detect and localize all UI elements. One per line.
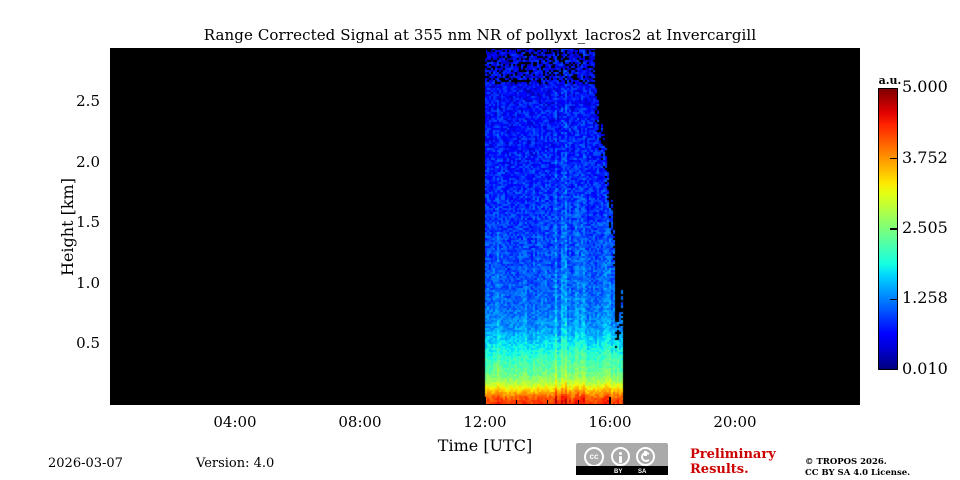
x-tick-minor-top [672, 48, 673, 53]
x-tick-minor-top [766, 48, 767, 53]
x-tick-minor [297, 400, 298, 405]
y-tick-major [110, 283, 118, 285]
x-tick-minor-top [391, 48, 392, 53]
x-tick-label: 04:00 [190, 413, 280, 431]
x-tick-minor [672, 400, 673, 405]
y-tick-major-right [852, 162, 860, 164]
x-tick-minor-top [797, 48, 798, 53]
y-tick-label: 1.0 [30, 274, 100, 292]
x-tick-minor [266, 400, 267, 405]
y-tick-minor-right [855, 132, 860, 133]
lidar-quicklook-figure: Range Corrected Signal at 355 nm NR of p… [0, 0, 960, 480]
x-tick-major [484, 397, 486, 405]
x-tick-minor [516, 400, 517, 405]
x-tick-minor-top [453, 48, 454, 53]
cc-by-person-icon [611, 447, 630, 466]
x-tick-minor [422, 400, 423, 405]
y-tick-minor-right [855, 193, 860, 194]
x-tick-minor [203, 400, 204, 405]
cc-badge-label-bar: BY SA [576, 466, 668, 475]
y-tick-minor-right [855, 374, 860, 375]
x-tick-minor [547, 400, 548, 405]
y-tick-major-right [852, 223, 860, 225]
colorbar-tick [890, 299, 897, 301]
y-tick-minor [110, 72, 115, 73]
x-tick-minor [578, 400, 579, 405]
y-tick-major-right [852, 283, 860, 285]
x-tick-major-top [359, 48, 361, 56]
y-tick-label: 0.5 [30, 334, 100, 352]
y-tick-major-right [852, 102, 860, 104]
preliminary-line-2: Results. [690, 463, 776, 478]
x-tick-major [734, 397, 736, 405]
cc-sa-label: SA [638, 469, 646, 475]
x-tick-minor-top [547, 48, 548, 53]
x-tick-minor [828, 400, 829, 405]
x-tick-minor [328, 400, 329, 405]
cc-badge-icons-row: cc [576, 444, 668, 466]
x-tick-minor [391, 400, 392, 405]
y-tick-major [110, 223, 118, 225]
y-tick-major [110, 344, 118, 346]
y-tick-minor [110, 253, 115, 254]
heatmap-data-image [110, 48, 860, 405]
x-tick-major-top [609, 48, 611, 56]
x-tick-minor [797, 400, 798, 405]
colorbar-tick-label: 3.752 [902, 148, 948, 167]
x-tick-label: 16:00 [565, 413, 655, 431]
copyright-line-1: © TROPOS 2026. [805, 457, 910, 468]
x-tick-major [609, 397, 611, 405]
y-tick-minor [110, 374, 115, 375]
x-tick-label: 08:00 [315, 413, 405, 431]
copyright-line-2: CC BY SA 4.0 License. [805, 468, 910, 479]
cc-logo-text: cc [586, 452, 602, 461]
y-tick-major-right [852, 344, 860, 346]
y-tick-minor [110, 314, 115, 315]
plot-axes-area[interactable] [110, 48, 860, 405]
x-tick-minor-top [203, 48, 204, 53]
x-tick-major-top [234, 48, 236, 56]
x-tick-minor [703, 400, 704, 405]
colorbar-tick-label: 0.010 [902, 359, 948, 378]
colorbar-tick-label: 2.505 [902, 218, 948, 237]
x-tick-minor-top [328, 48, 329, 53]
x-tick-minor [141, 400, 142, 405]
cc-by-body [619, 456, 622, 463]
cc-sa-arrow [644, 451, 646, 456]
x-tick-minor-top [578, 48, 579, 53]
y-axis-label: Height [km] [58, 178, 77, 276]
x-tick-label: 20:00 [690, 413, 780, 431]
y-tick-label: 2.0 [30, 153, 100, 171]
y-tick-minor-right [855, 72, 860, 73]
colorbar-tick [890, 158, 897, 160]
y-tick-minor-right [855, 253, 860, 254]
x-tick-minor [641, 400, 642, 405]
x-tick-minor-top [422, 48, 423, 53]
x-tick-minor-top [516, 48, 517, 53]
colorbar-tick [890, 228, 897, 230]
colorbar-tick-label: 1.258 [902, 288, 948, 307]
x-tick-major-top [734, 48, 736, 56]
copyright-notice: © TROPOS 2026. CC BY SA 4.0 License. [805, 457, 910, 480]
x-tick-minor-top [828, 48, 829, 53]
x-tick-minor [453, 400, 454, 405]
x-tick-minor [766, 400, 767, 405]
x-tick-minor-top [141, 48, 142, 53]
y-tick-minor [110, 193, 115, 194]
cc-logo-icon: cc [584, 447, 604, 467]
page-title: Range Corrected Signal at 355 nm NR of p… [0, 26, 960, 44]
preliminary-line-1: Preliminary [690, 448, 776, 463]
x-tick-minor-top [172, 48, 173, 53]
creative-commons-badge-icon[interactable]: cc BY SA [576, 443, 668, 475]
y-tick-major [110, 102, 118, 104]
x-tick-minor-top [703, 48, 704, 53]
preliminary-results-notice: Preliminary Results. [690, 448, 776, 477]
cc-by-head [619, 452, 622, 455]
x-tick-minor-top [641, 48, 642, 53]
y-tick-label: 2.5 [30, 92, 100, 110]
x-tick-major-top [484, 48, 486, 56]
y-tick-minor [110, 132, 115, 133]
x-tick-major [359, 397, 361, 405]
figure-date: 2026-03-07 [48, 456, 123, 471]
x-tick-minor [172, 400, 173, 405]
y-tick-major [110, 162, 118, 164]
cc-sa-share-alike-icon [636, 447, 655, 466]
y-tick-minor-right [855, 314, 860, 315]
cc-by-label: BY [614, 469, 622, 475]
figure-version: Version: 4.0 [196, 456, 274, 471]
colorbar-tick-label: 5.000 [902, 77, 948, 96]
x-tick-minor-top [297, 48, 298, 53]
x-tick-minor-top [266, 48, 267, 53]
x-tick-label: 12:00 [440, 413, 530, 431]
x-tick-major [234, 397, 236, 405]
